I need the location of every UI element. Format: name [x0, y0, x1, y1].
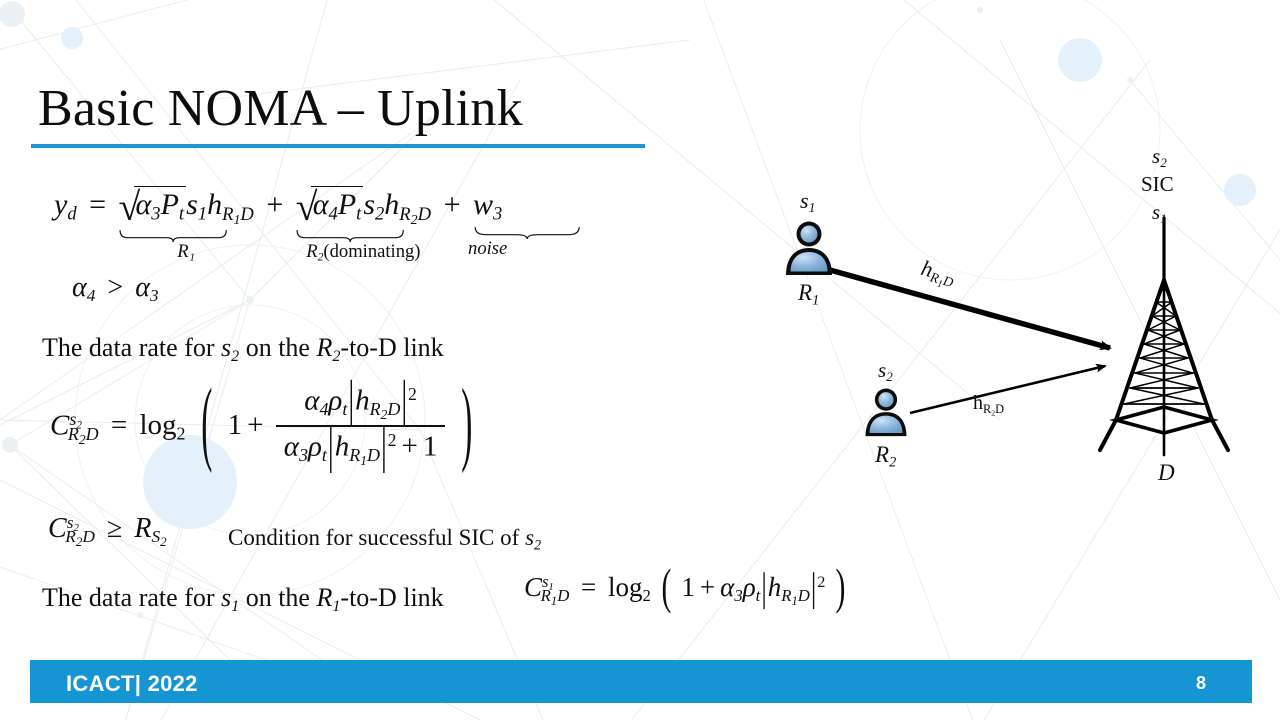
signal-symbol-s: s	[221, 583, 231, 612]
link-r1-to-d	[830, 270, 1110, 348]
sentence-prefix: The data rate for	[42, 583, 215, 612]
left-paren: (	[661, 559, 671, 616]
footer-page-number: 8	[1196, 673, 1206, 694]
channel-symbol-h: h	[207, 188, 222, 221]
label-tower-sic: SIC	[1141, 172, 1174, 197]
alpha3-subscript: 3	[150, 286, 159, 305]
noise-subscript: 3	[493, 204, 502, 225]
label-s2-over-r2: s2	[878, 358, 893, 385]
plus-sign: +	[242, 409, 268, 441]
user-icon-r1	[782, 218, 836, 280]
radical-sign-icon: √	[296, 184, 318, 230]
uplink-system-diagram: s1 R1 s2 R2 s2 SIC s1 D hR1D hR2D	[760, 130, 1260, 510]
greater-than-sign: >	[102, 272, 128, 303]
capacity-subscript: R1D	[541, 586, 570, 605]
left-paren: (	[201, 371, 212, 478]
signal-symbol-s: s	[525, 525, 534, 550]
sentence-suffix: -to-D link	[340, 333, 443, 362]
footer-conference-label: ICACT| 2022	[66, 671, 198, 697]
radical-sign-icon: √	[119, 184, 141, 230]
label-s1-over-r1: s1	[800, 188, 815, 216]
alpha-symbol: α	[72, 272, 87, 303]
capacity-symbol-c2: Cs2R2D	[50, 409, 99, 448]
capacity-subscript: R2D	[65, 527, 95, 546]
label-node-r2: R2	[875, 442, 896, 471]
user-icon-r2	[862, 385, 910, 441]
relay-symbol-r: R	[316, 583, 332, 612]
term-noise-group: w3 noise	[473, 188, 502, 226]
channel-symbol-h: h	[384, 188, 399, 221]
label-node-r1: R1	[798, 280, 819, 309]
label-node-d: D	[1158, 460, 1175, 486]
rho-symbol: ρ	[743, 572, 756, 602]
slide-canvas: Basic NOMA – Uplink yd = √ α3Pt s1hR1D R…	[0, 0, 1280, 720]
underbrace-label-r2: R2(dominating)	[306, 241, 420, 263]
equation-sic-condition: Cs2R2D ≥ RS2	[48, 513, 167, 550]
equation-capacity-s1: Cs1R1D = log2 ( 1+α3ρt|hR1D|2 )	[524, 572, 849, 609]
log-operator: log2	[608, 572, 651, 602]
sinr-fraction: α4ρt|hR2D|2 α3ρt|hR1D|2+1	[276, 384, 446, 469]
plus-sign-1: +	[261, 188, 288, 221]
channel-subscript: R1D	[781, 586, 810, 605]
capacity-subscript: R2D	[68, 424, 99, 444]
capacity-symbol-c2-cond: Cs2R2D	[48, 513, 95, 550]
power-subscript: t	[356, 204, 361, 225]
label-channel-h-r2d: hR2D	[973, 392, 1004, 417]
equation-capacity-s2: Cs2R2D = log2 ( 1+ α4ρt|hR2D|2 α3ρt|hR1D…	[50, 385, 480, 470]
equation-alpha-ordering: α4 > α3	[72, 272, 159, 306]
equals-sign: =	[84, 188, 111, 221]
text-data-rate-s1: The data rate for s1 on the R1-to-D link	[42, 583, 444, 616]
sentence-suffix: -to-D link	[340, 583, 443, 612]
radicand-2: α4Pt	[311, 186, 364, 226]
signal-subscript: 1	[198, 204, 207, 225]
channel-symbol-h: h	[768, 572, 782, 602]
channel-subscript: R2D	[399, 204, 431, 225]
right-paren: )	[836, 559, 846, 616]
signal-symbol-s: s	[186, 188, 198, 221]
alpha-subscript: 3	[151, 204, 160, 225]
abs-bar-right: |	[811, 564, 816, 611]
power-subscript: t	[179, 204, 184, 225]
relay-symbol-r: R	[316, 333, 332, 362]
plus-sign: +	[695, 572, 720, 602]
noise-symbol-w: w	[473, 188, 493, 221]
underbrace-1-icon	[119, 229, 227, 242]
right-paren: )	[461, 371, 472, 478]
term-r2-content: √ α4Pt s2hR2D	[296, 186, 431, 229]
alpha4-subscript: 4	[87, 286, 96, 305]
equation-received-signal: yd = √ α3Pt s1hR1D R₁ + √ α4Pt s2hR2D	[54, 186, 502, 229]
radicand-1: α3Pt	[134, 186, 187, 226]
signal-symbol-s: s	[363, 188, 375, 221]
term-r2-group: √ α4Pt s2hR2D R2(dominating)	[296, 186, 431, 229]
capacity-symbol-c1: Cs1R1D	[524, 572, 569, 609]
plus-sign-2: +	[439, 188, 466, 221]
alpha-symbol: α	[720, 572, 734, 602]
power-symbol: P	[161, 188, 179, 221]
sentence-mid: on the	[246, 583, 310, 612]
equals-sign: =	[106, 409, 132, 441]
abs-bar-left: |	[761, 564, 766, 611]
text-data-rate-s2: The data rate for s2 on the R2-to-D link	[42, 333, 444, 366]
square-exponent: 2	[817, 573, 825, 591]
symbol-y: y	[54, 188, 67, 221]
subscript-d: d	[67, 204, 76, 225]
fraction-denominator: α3ρt|hR1D|2+1	[276, 425, 446, 469]
radical-term-2: √ α4Pt	[296, 186, 364, 226]
power-symbol: P	[338, 188, 356, 221]
signal-subscript: 1	[231, 598, 239, 615]
underbrace-label-r1: R₁	[177, 241, 195, 263]
text-sic-condition-note: Condition for successful SIC of s2	[228, 525, 541, 554]
sentence-mid: on the	[246, 333, 310, 362]
footer-bar: ICACT| 2022 8	[30, 660, 1252, 703]
sentence-prefix: The data rate for	[42, 333, 215, 362]
constant-one: 1	[228, 409, 243, 441]
fraction-numerator: α4ρt|hR2D|2	[276, 384, 446, 425]
signal-subscript: 2	[375, 204, 384, 225]
term-noise-content: w3	[473, 188, 502, 226]
signal-subscript: 2	[534, 537, 541, 553]
constant-one: 1	[681, 572, 695, 602]
condition-sentence: Condition for successful SIC of	[228, 525, 519, 550]
log-operator: log2	[139, 409, 185, 441]
label-tower-s1: s1	[1152, 200, 1167, 227]
rate-symbol-r: R	[134, 513, 151, 544]
channel-subscript: R1D	[222, 204, 254, 225]
signal-subscript: 2	[231, 348, 239, 365]
page-title: Basic NOMA – Uplink	[38, 82, 523, 137]
signal-symbol-s: s	[221, 333, 231, 362]
term-r1-content: √ α3Pt s1hR1D	[119, 186, 254, 229]
label-tower-s2: s2	[1152, 144, 1167, 171]
rate-subscript: S2	[151, 527, 166, 546]
link-r2-to-d	[910, 366, 1105, 413]
radical-term-1: √ α3Pt	[119, 186, 187, 226]
equals-sign: =	[576, 572, 601, 602]
diagram-links-layer	[760, 130, 1260, 510]
underbrace-label-noise: noise	[468, 238, 507, 260]
term-r1-group: √ α3Pt s1hR1D R₁	[119, 186, 254, 229]
title-underline-rule	[31, 144, 645, 148]
greater-equal-sign: ≥	[102, 513, 127, 544]
tower-icon	[1100, 218, 1228, 455]
alpha-subscript: 4	[329, 204, 338, 225]
alpha-symbol: α	[135, 272, 150, 303]
